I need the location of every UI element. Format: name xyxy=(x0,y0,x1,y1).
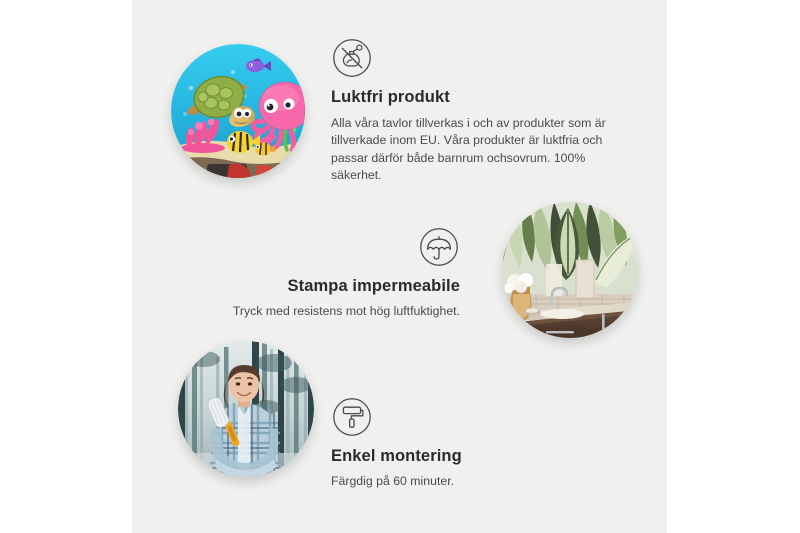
feature-title: Enkel montering xyxy=(331,446,631,467)
feature-body: Färgdig på 60 minuter. xyxy=(331,473,631,490)
no-fragrance-icon xyxy=(332,38,372,78)
feature-odourless: Luktfri produkt Alla våra tavlor tillver… xyxy=(331,38,631,184)
feature-body: Tryck med resistens mot hög luftfuktighe… xyxy=(160,303,460,320)
feature-easy-mount: Enkel montering Färgdig på 60 minuter. xyxy=(331,397,631,490)
feature-waterproof: Stampa impermeabile Tryck med resistens … xyxy=(160,227,460,320)
paint-roller-icon xyxy=(332,397,372,437)
promo-banner: Luktfri produkt Alla våra tavlor tillver… xyxy=(0,0,800,533)
feature-title: Luktfri produkt xyxy=(331,87,631,108)
bathroom-interior-photo xyxy=(502,202,638,338)
umbrella-icon xyxy=(419,227,459,267)
decorator-in-forest-photo xyxy=(178,341,314,477)
feature-title: Stampa impermeabile xyxy=(160,276,460,297)
feature-body: Alla våra tavlor tillverkas i och av pro… xyxy=(331,115,631,185)
underwater-scene-photo xyxy=(171,44,305,178)
